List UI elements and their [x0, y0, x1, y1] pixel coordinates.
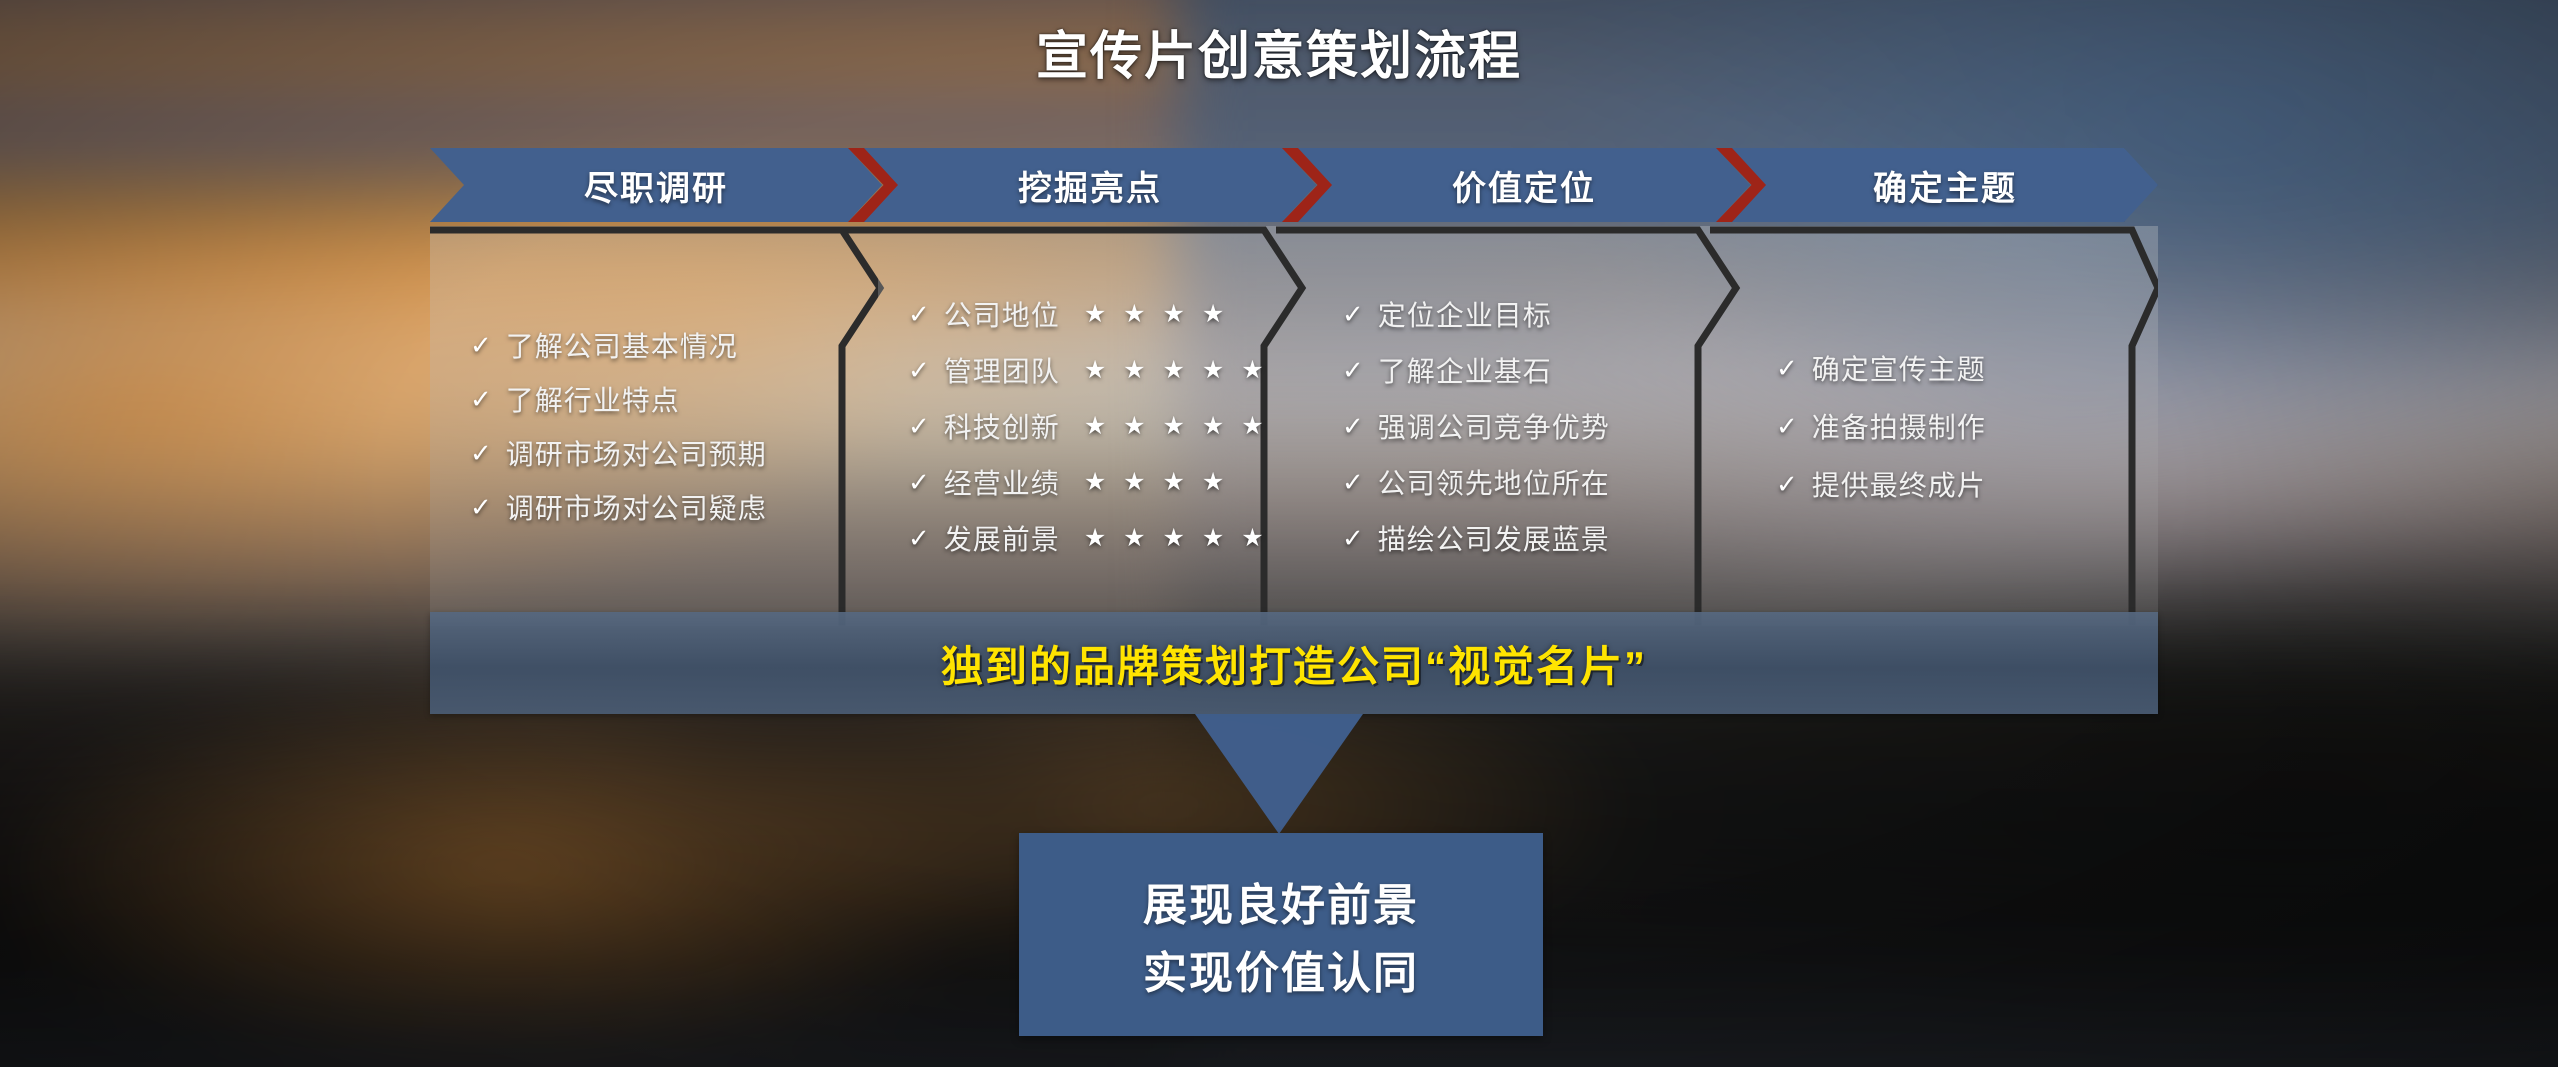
list-item-label: 公司领先地位所在 — [1378, 462, 1610, 502]
stage-header-2[interactable]: 挖掘亮点 — [864, 148, 1316, 222]
list-item: ✓ 确定宣传主题 — [1776, 348, 2146, 388]
check-icon: ✓ — [470, 440, 492, 466]
check-icon: ✓ — [470, 494, 492, 520]
list-item-label: 了解公司基本情况 — [506, 325, 738, 365]
star-rating: ★ ★ ★ ★ ★ — [1084, 523, 1269, 553]
stage-items-4: ✓ 确定宣传主题 ✓ 准备拍摄制作 ✓ 提供最终成片 — [1776, 226, 2146, 626]
star-rating: ★ ★ ★ ★ — [1084, 467, 1230, 497]
check-icon: ✓ — [1776, 413, 1798, 439]
stage-body-row: ✓ 了解公司基本情况 ✓ 了解行业特点 ✓ 调研市场对公司预期 ✓ 调研市场对公… — [430, 226, 2158, 626]
check-icon: ✓ — [1342, 413, 1364, 439]
check-icon: ✓ — [908, 413, 930, 439]
list-item-label: 了解行业特点 — [506, 379, 680, 419]
list-item: ✓ 描绘公司发展蓝景 — [1342, 518, 1742, 558]
stage-header-row: 尽职调研 挖掘亮点 价值定位 确定主题 — [430, 148, 2158, 222]
stage-header-label: 尽职调研 — [584, 161, 728, 210]
list-item: ✓ 提供最终成片 — [1776, 464, 2146, 504]
list-item: ✓ 管理团队 ★ ★ ★ ★ ★ — [908, 350, 1308, 390]
highlight-banner[interactable]: 独到的品牌策划打造公司“视觉名片” — [430, 612, 2158, 714]
list-item: ✓ 科技创新 ★ ★ ★ ★ ★ — [908, 406, 1308, 446]
check-icon: ✓ — [1342, 357, 1364, 383]
list-item-label: 科技创新 — [944, 406, 1060, 446]
check-icon: ✓ — [1342, 469, 1364, 495]
list-item: ✓ 了解公司基本情况 — [470, 325, 870, 365]
stage-items-2: ✓ 公司地位 ★ ★ ★ ★ ✓ 管理团队 ★ ★ ★ ★ ★ ✓ 科技创新 ★… — [908, 226, 1308, 626]
check-icon: ✓ — [1776, 355, 1798, 381]
check-icon: ✓ — [908, 357, 930, 383]
stage-header-label: 挖掘亮点 — [1018, 161, 1162, 210]
stage-header-label: 价值定位 — [1452, 161, 1596, 210]
stage-header-3[interactable]: 价值定位 — [1298, 148, 1750, 222]
list-item: ✓ 调研市场对公司疑虑 — [470, 487, 870, 527]
list-item: ✓ 定位企业目标 — [1342, 294, 1742, 334]
list-item-label: 调研市场对公司疑虑 — [506, 487, 767, 527]
list-item-label: 了解企业基石 — [1378, 350, 1552, 390]
list-item-label: 确定宣传主题 — [1812, 348, 1986, 388]
list-item-label: 发展前景 — [944, 518, 1060, 558]
list-item-label: 调研市场对公司预期 — [506, 433, 767, 473]
stage-header-1[interactable]: 尽职调研 — [430, 148, 882, 222]
list-item-label: 强调公司竞争优势 — [1378, 406, 1610, 446]
stage-header-label: 确定主题 — [1873, 161, 2017, 210]
stage-items-3: ✓ 定位企业目标 ✓ 了解企业基石 ✓ 强调公司竞争优势 ✓ 公司领先地位所在 — [1342, 226, 1742, 626]
check-icon: ✓ — [1342, 301, 1364, 327]
outcome-box[interactable]: 展现良好前景 实现价值认同 — [1019, 833, 1543, 1036]
check-icon: ✓ — [908, 469, 930, 495]
star-rating: ★ ★ ★ ★ — [1084, 299, 1230, 329]
page-title: 宣传片创意策划流程 — [0, 14, 2558, 89]
list-item: ✓ 公司领先地位所在 — [1342, 462, 1742, 502]
list-item: ✓ 发展前景 ★ ★ ★ ★ ★ — [908, 518, 1308, 558]
check-icon: ✓ — [1776, 471, 1798, 497]
list-item-label: 提供最终成片 — [1812, 464, 1986, 504]
list-item: ✓ 准备拍摄制作 — [1776, 406, 2146, 446]
check-icon: ✓ — [470, 332, 492, 358]
check-icon: ✓ — [470, 386, 492, 412]
list-item: ✓ 了解企业基石 — [1342, 350, 1742, 390]
list-item-label: 管理团队 — [944, 350, 1060, 390]
list-item-label: 描绘公司发展蓝景 — [1378, 518, 1610, 558]
list-item: ✓ 经营业绩 ★ ★ ★ ★ — [908, 462, 1308, 502]
list-item: ✓ 强调公司竞争优势 — [1342, 406, 1742, 446]
check-icon: ✓ — [908, 301, 930, 327]
stage-items-1: ✓ 了解公司基本情况 ✓ 了解行业特点 ✓ 调研市场对公司预期 ✓ 调研市场对公… — [470, 226, 870, 626]
outcome-line-2: 实现价值认同 — [1143, 937, 1419, 1001]
list-item: ✓ 公司地位 ★ ★ ★ ★ — [908, 294, 1308, 334]
list-item-label: 定位企业目标 — [1378, 294, 1552, 334]
stage-header-4[interactable]: 确定主题 — [1732, 148, 2158, 222]
star-rating: ★ ★ ★ ★ ★ — [1084, 411, 1269, 441]
outcome-line-1: 展现良好前景 — [1143, 869, 1419, 933]
list-item-label: 公司地位 — [944, 294, 1060, 334]
slide-canvas: 宣传片创意策划流程 尽职调研 挖掘亮点 价值定位 确定主题 — [0, 0, 2558, 1067]
star-rating: ★ ★ ★ ★ ★ — [1084, 355, 1269, 385]
list-item-label: 准备拍摄制作 — [1812, 406, 1986, 446]
list-item: ✓ 了解行业特点 — [470, 379, 870, 419]
highlight-banner-text: 独到的品牌策划打造公司“视觉名片” — [941, 633, 1647, 694]
check-icon: ✓ — [1342, 525, 1364, 551]
process-diagram: 尽职调研 挖掘亮点 价值定位 确定主题 — [430, 148, 2158, 626]
list-item-label: 经营业绩 — [944, 462, 1060, 502]
check-icon: ✓ — [908, 525, 930, 551]
list-item: ✓ 调研市场对公司预期 — [470, 433, 870, 473]
